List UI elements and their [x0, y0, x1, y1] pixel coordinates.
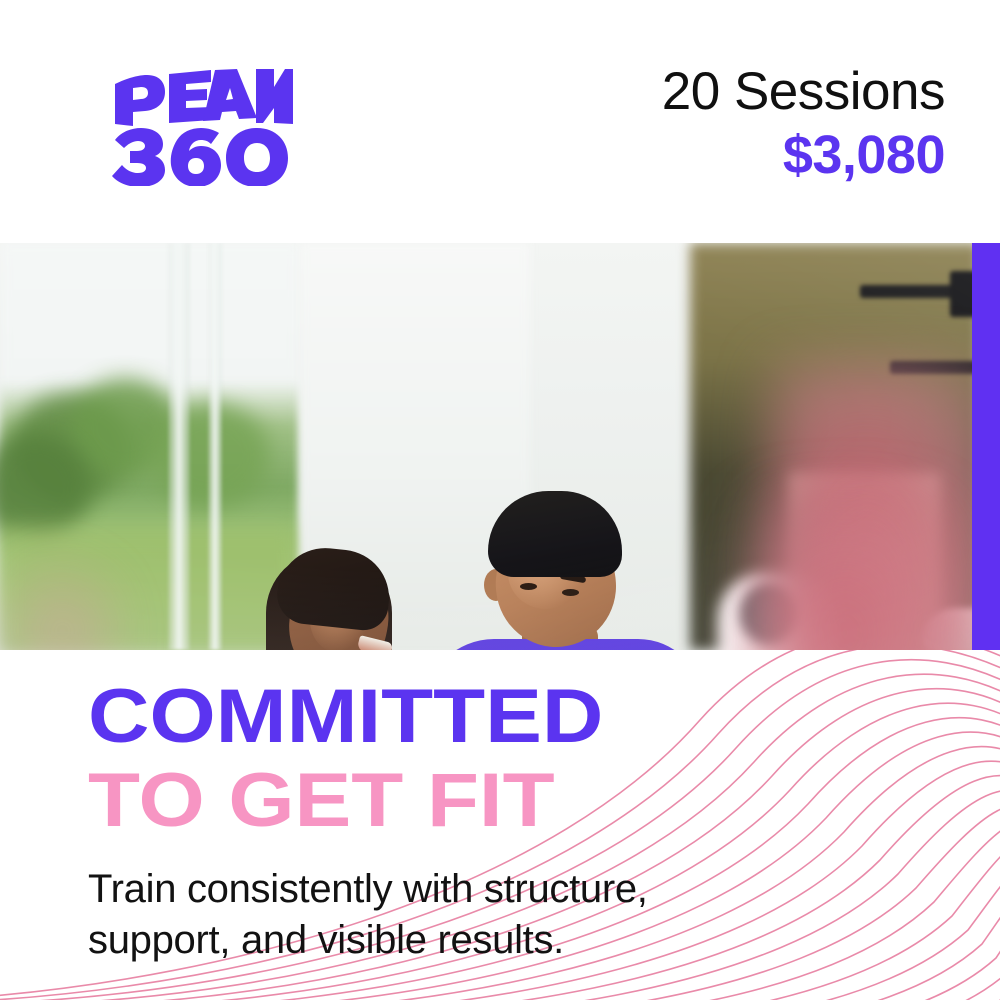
trainer-hair — [488, 491, 622, 577]
foreground-blur-left — [0, 543, 130, 650]
accent-bar — [972, 243, 1000, 650]
trainer-eye — [562, 589, 579, 596]
headline-line-2: TO GET FIT — [88, 764, 805, 838]
brand-logo — [105, 66, 295, 186]
price-label: $3,080 — [662, 124, 945, 186]
poster-footer: COMMITTED TO GET FIT Train consistently … — [0, 650, 1000, 1000]
trainer-person: PEAK 360 — [412, 491, 742, 650]
headline-line-1: COMMITTED — [88, 680, 805, 754]
window-mullion — [208, 243, 222, 650]
hero-photo: PEAK 360 — [0, 243, 1000, 650]
peak-360-logo-icon — [105, 66, 295, 186]
price-block: 20 Sessions $3,080 — [662, 62, 945, 186]
client-hair-top — [274, 543, 394, 632]
gym-scene: PEAK 360 — [0, 243, 1000, 650]
foreground-blur-pink — [745, 503, 945, 650]
promo-poster: 20 Sessions $3,080 — [0, 0, 1000, 1000]
sessions-label: 20 Sessions — [662, 62, 945, 122]
subcopy-text: Train consistently with structure, suppo… — [88, 864, 728, 966]
trainer-eye — [520, 583, 537, 590]
poster-header: 20 Sessions $3,080 — [0, 0, 1000, 243]
window-mullion — [168, 243, 190, 650]
headline-block: COMMITTED TO GET FIT Train consistently … — [88, 680, 728, 966]
